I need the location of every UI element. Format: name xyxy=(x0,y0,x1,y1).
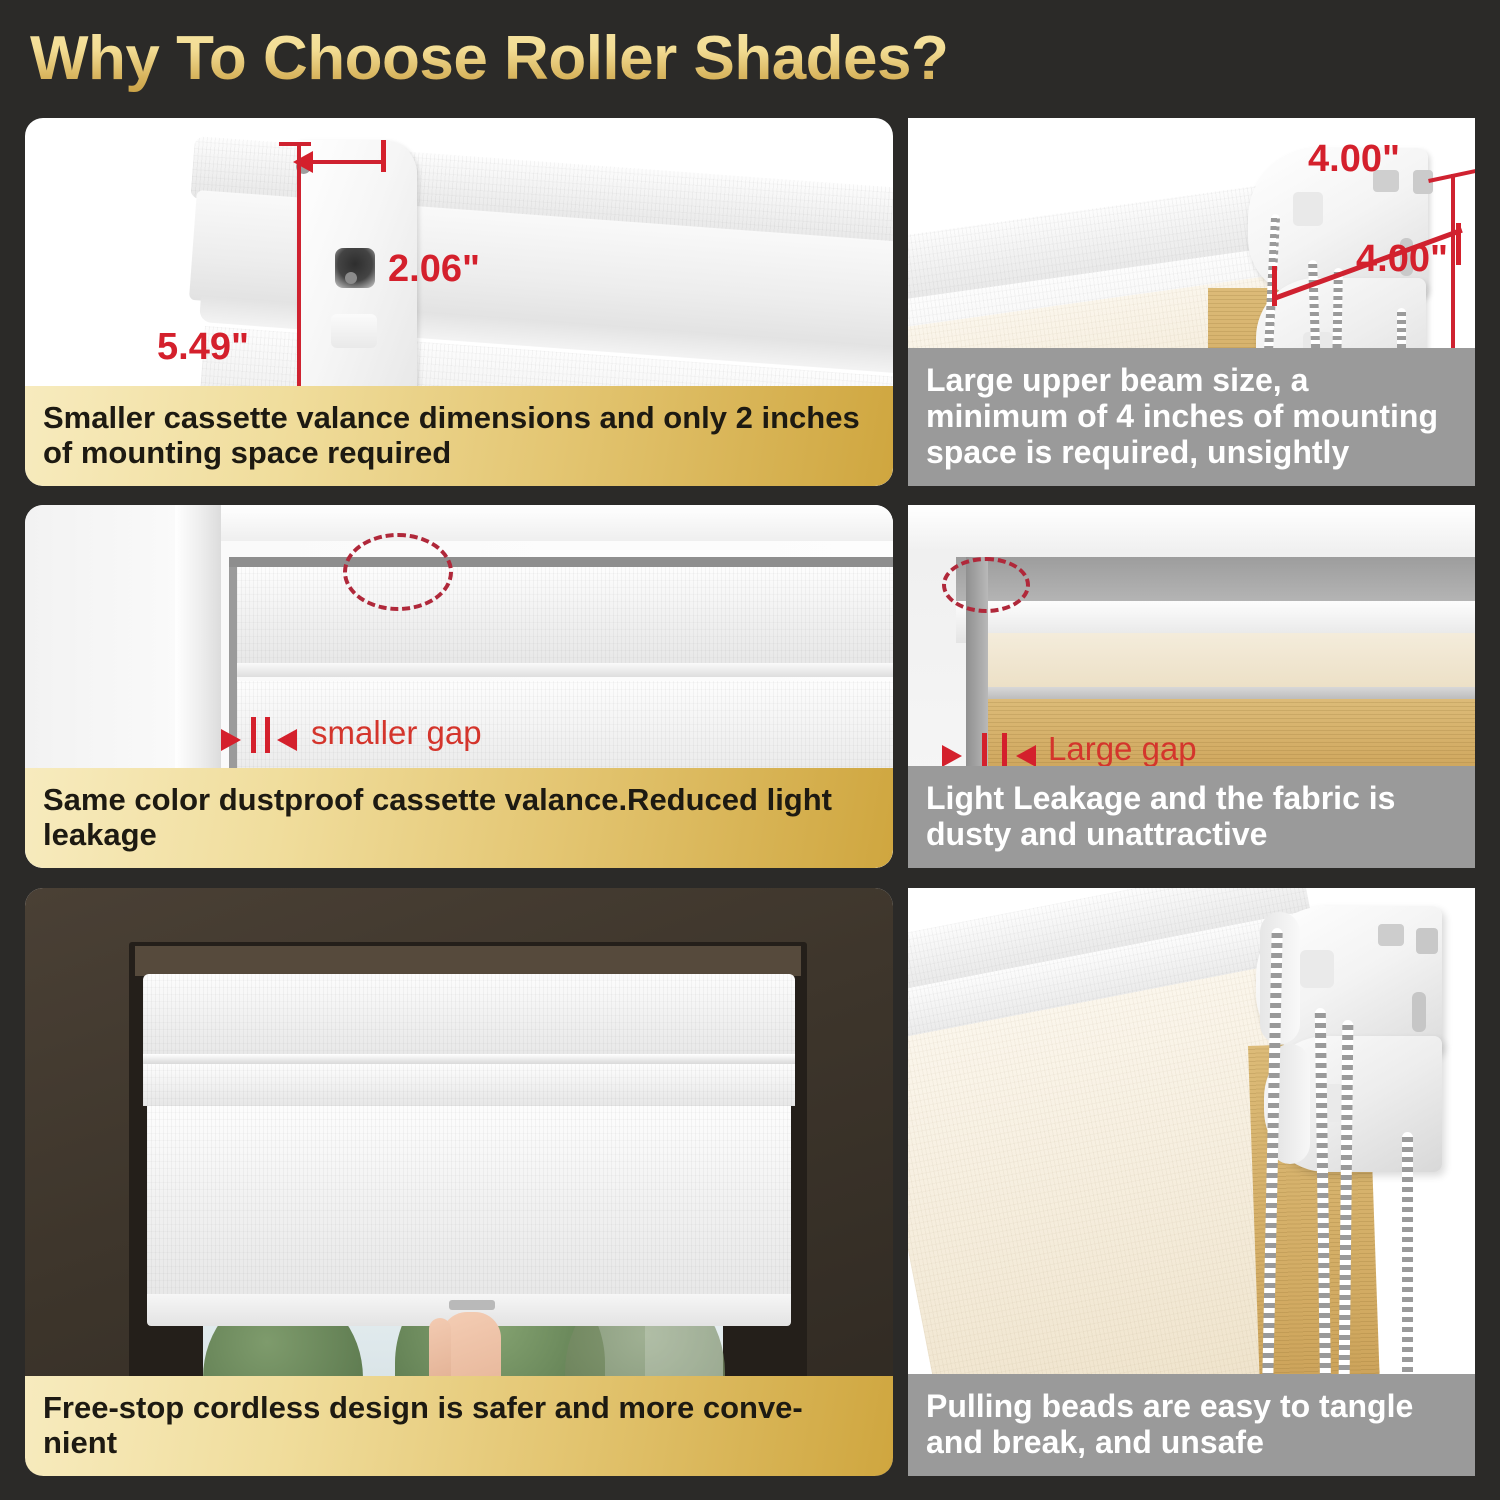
valance-lower xyxy=(143,1064,795,1106)
bracket-slot-1 xyxy=(1378,924,1404,946)
page-title: Why To Choose Roller Shades? xyxy=(30,18,1230,100)
caption-middle-right: Light Leakage and the fabric is dusty an… xyxy=(908,766,1475,868)
bottom-rail-grip xyxy=(449,1300,495,1310)
panel-top-right: 4.00" 4.00" Large upper beam size, a min… xyxy=(908,118,1475,486)
highlight-ellipse-top xyxy=(942,557,1030,613)
caption-bottom-left: Free-stop cordless design is safer and m… xyxy=(25,1376,893,1476)
caption-top-right: Large upper beam size, a minimum of 4 in… xyxy=(908,348,1475,486)
cassette-top-gap xyxy=(229,557,893,567)
dim-tick-width-right xyxy=(381,140,386,172)
beam-cream-band xyxy=(968,633,1475,689)
valance-seam xyxy=(143,1054,795,1064)
panel-middle-right: Large gap Light Leakage and the fabric i… xyxy=(908,505,1475,868)
gap-arrow-left xyxy=(221,729,241,751)
dim-label-width: 2.06" xyxy=(388,248,480,291)
gap-arrow-right xyxy=(1016,745,1036,767)
panel-middle-left: smaller gap Same color dustproof cassett… xyxy=(25,505,893,868)
dim-tick-w-left xyxy=(1272,266,1277,306)
panel-bottom-right: Pulling beads are easy to tangle and bre… xyxy=(908,888,1475,1476)
ceiling-band xyxy=(908,505,1475,551)
upper-beam-shadow xyxy=(956,557,1475,603)
window-header xyxy=(135,946,801,976)
smaller-gap-strip xyxy=(229,567,237,795)
dim-tick-w-right xyxy=(1456,223,1461,265)
cassette-valance-face xyxy=(229,567,893,665)
dim-label-height: 4.00" xyxy=(1356,238,1448,281)
caption-top-left: Smaller cassette valance dimensions and … xyxy=(25,386,893,486)
cassette-valance xyxy=(143,974,795,1058)
gap-tick-a xyxy=(982,733,987,769)
caption-bottom-right: Pulling beads are easy to tangle and bre… xyxy=(908,1374,1475,1476)
dim-label-height: 5.49" xyxy=(157,326,249,369)
bracket-emboss-upper xyxy=(1293,192,1323,226)
end-cap-screw-lower xyxy=(345,272,357,284)
gap-arrow-left xyxy=(942,745,962,767)
dim-tick-height-top xyxy=(279,142,311,146)
dim-arrow-left xyxy=(293,151,313,173)
bracket-slot-3 xyxy=(1412,992,1426,1032)
infographic-root: Why To Choose Roller Shades? 2.06" 5.49" xyxy=(0,0,1500,1500)
panel-top-left: 2.06" 5.49" Smaller cassette valance dim… xyxy=(25,118,893,486)
shade-panel xyxy=(147,1106,791,1302)
window-frame-top xyxy=(221,505,893,541)
highlight-ellipse-top xyxy=(343,533,453,611)
bracket-slot-2 xyxy=(1416,928,1438,954)
gap-tick-b xyxy=(265,717,270,753)
gap-tick-a xyxy=(251,717,256,753)
gap-arrow-right xyxy=(277,729,297,751)
gap-label: smaller gap xyxy=(311,714,482,752)
beam-lip xyxy=(968,687,1475,699)
dim-label-width: 4.00" xyxy=(1308,138,1400,181)
cassette-bottom-edge xyxy=(229,663,893,677)
gap-tick-b xyxy=(1002,733,1007,769)
gap-label: Large gap xyxy=(1048,730,1197,768)
panel-bottom-left: Free-stop cordless design is safer and m… xyxy=(25,888,893,1476)
bracket-emboss-upper xyxy=(1300,950,1334,988)
end-cap-clip xyxy=(331,314,377,348)
caption-middle-left: Same color dustproof cassette valance.Re… xyxy=(25,768,893,868)
window-frame-left xyxy=(175,505,221,795)
